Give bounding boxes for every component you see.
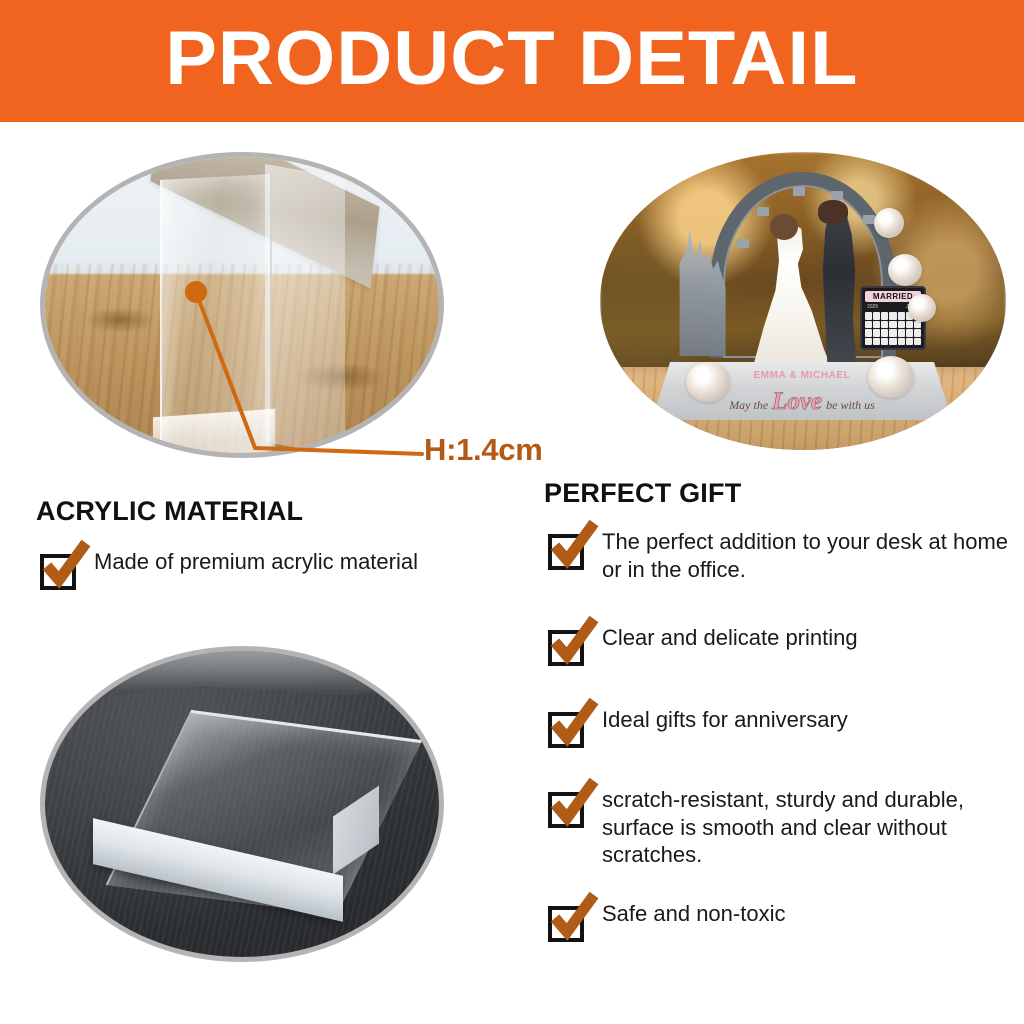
acrylic-base-highlight — [153, 409, 275, 458]
feature-label: scratch-resistant, sturdy and durable, s… — [602, 786, 1024, 869]
phrase-suffix: be with us — [826, 398, 875, 412]
check-icon — [547, 892, 603, 948]
feature-item: The perfect addition to your desk at hom… — [548, 528, 1024, 583]
checkbox-checked[interactable] — [548, 902, 588, 942]
check-icon — [547, 616, 603, 672]
checkbox-checked[interactable] — [548, 708, 588, 748]
feature-label: Safe and non-toxic — [602, 900, 785, 928]
acrylic-plaque: MARRIED 2025 JUNE EMMA & MICHAEL — [652, 166, 952, 418]
feature-label: Clear and delicate printing — [602, 624, 858, 652]
wood-knot — [85, 307, 155, 333]
photo-acrylic-edge — [40, 152, 444, 458]
section-title-perfect-gift: PERFECT GIFT — [544, 478, 741, 509]
rose-decoration — [874, 208, 904, 238]
product-detail-infographic: PRODUCT DETAIL H:1.4cm — [0, 0, 1024, 1024]
feature-item: scratch-resistant, sturdy and durable, s… — [548, 786, 1024, 869]
feature-item: Clear and delicate printing — [548, 624, 858, 666]
acrylic-right-face — [265, 164, 345, 456]
groom-hair — [818, 200, 848, 224]
phrase-prefix: May the — [729, 398, 768, 412]
check-icon — [547, 698, 603, 754]
feature-label: Ideal gifts for anniversary — [602, 706, 848, 734]
feature-label: Made of premium acrylic material — [94, 548, 418, 576]
rose-decoration — [908, 294, 936, 322]
checkbox-checked[interactable] — [40, 550, 80, 590]
bride-hair — [770, 214, 798, 240]
slate-background — [45, 651, 439, 957]
rose-decoration — [686, 362, 730, 402]
section-title-acrylic-material: ACRYLIC MATERIAL — [36, 496, 303, 527]
feature-label: The perfect addition to your desk at hom… — [602, 528, 1024, 583]
calendar-year: 2025 — [867, 304, 878, 310]
page-title: PRODUCT DETAIL — [165, 21, 858, 101]
slate-edge — [45, 651, 439, 718]
feature-item: Ideal gifts for anniversary — [548, 706, 848, 748]
header-banner: PRODUCT DETAIL — [0, 0, 1024, 122]
rose-decoration — [868, 356, 914, 398]
wood-desk-scene — [45, 157, 439, 453]
rose-decoration — [888, 254, 922, 286]
check-icon — [547, 520, 603, 576]
checkbox-checked[interactable] — [548, 626, 588, 666]
feature-item: Safe and non-toxic — [548, 900, 785, 942]
check-icon — [547, 778, 603, 834]
photo-wedding-plaque: MARRIED 2025 JUNE EMMA & MICHAEL — [600, 152, 1006, 450]
phrase-accent: Love — [768, 388, 826, 415]
callout-dot — [185, 281, 207, 303]
photo-acrylic-block — [40, 646, 444, 962]
check-icon — [39, 540, 95, 596]
feature-item: Made of premium acrylic material — [40, 548, 418, 590]
checkbox-checked[interactable] — [548, 788, 588, 828]
checkbox-checked[interactable] — [548, 530, 588, 570]
height-label: H:1.4cm — [424, 432, 543, 468]
